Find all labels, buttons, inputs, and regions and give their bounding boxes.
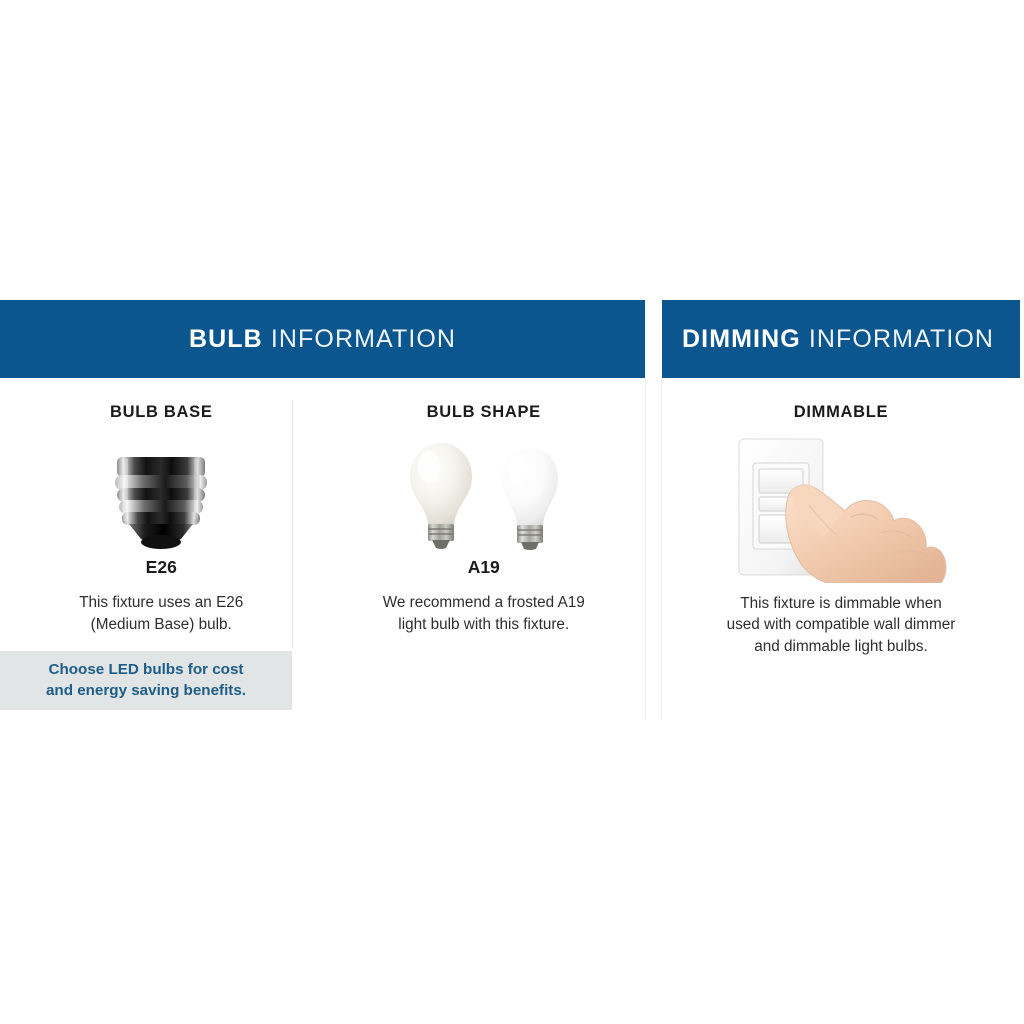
column-title-bulb-shape: BULB SHAPE: [323, 404, 646, 421]
bulb-information-body: BULB BASE: [0, 378, 645, 635]
column-bulb-shape: BULB SHAPE: [323, 378, 646, 635]
bulb-shape-spec-label: A19: [323, 559, 646, 577]
dimming-information-header: DIMMING INFORMATION: [662, 300, 1020, 378]
dimmable-description: This fixture is dimmable when used with …: [662, 593, 1020, 658]
bulb-information-header: BULB INFORMATION: [0, 300, 645, 378]
dimming-information-title-light: INFORMATION: [809, 325, 994, 353]
bulb-shape-artwork: [323, 433, 646, 551]
bulb-information-title-strong: BULB: [189, 325, 263, 353]
dimming-information-title: DIMMING INFORMATION: [682, 327, 994, 352]
bulb-information-title: BULB INFORMATION: [189, 327, 456, 352]
column-bulb-base: BULB BASE: [0, 378, 323, 635]
dimming-information-title-strong: DIMMING: [682, 325, 801, 353]
bulb-information-title-light: INFORMATION: [271, 325, 456, 353]
bulb-base-spec-label: E26: [0, 559, 323, 577]
dimming-information-body: DIMMABLE: [662, 378, 1020, 658]
dimmer-switch-artwork: [662, 433, 1020, 583]
bulb-shape-description: We recommend a frosted A19 light bulb wi…: [323, 592, 646, 635]
divider-bulb-columns: [292, 400, 293, 648]
led-a19-bulb-icon: [496, 445, 564, 551]
bulb-information-columns: BULB BASE: [0, 378, 645, 635]
led-callout-box: Choose LED bulbs for cost and energy sav…: [0, 651, 292, 710]
e26-screw-base-icon: [109, 455, 213, 551]
bulb-base-description: This fixture uses an E26 (Medium Base) b…: [0, 592, 323, 635]
column-title-bulb-base: BULB BASE: [0, 404, 323, 421]
bulb-base-artwork: [0, 433, 323, 551]
divider-panel-right-edge: [661, 380, 662, 720]
divider-panel-left-edge: [645, 380, 646, 720]
dimming-information-columns: DIMMABLE: [662, 378, 1020, 658]
frosted-incandescent-bulb-icon: [404, 439, 478, 551]
column-title-dimmable: DIMMABLE: [662, 404, 1020, 421]
column-dimmable: DIMMABLE: [662, 378, 1020, 658]
led-callout-text: Choose LED bulbs for cost and energy sav…: [46, 660, 246, 700]
wall-dimmer-with-hand-icon: [731, 433, 951, 583]
